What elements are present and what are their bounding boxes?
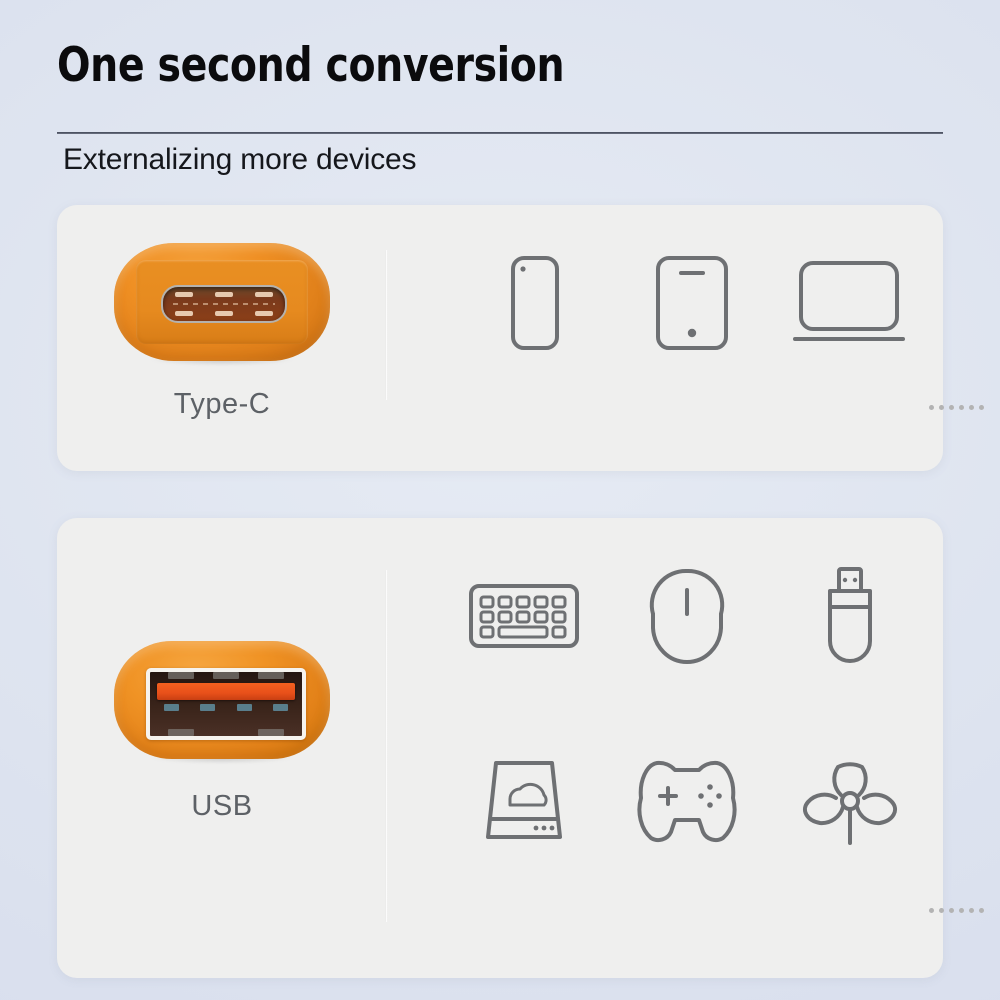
connector-label-type-c: Type-C bbox=[97, 388, 347, 421]
device-icon-external-hard-drive bbox=[442, 743, 605, 863]
usb-c-receptacle bbox=[161, 285, 287, 323]
usb-a-tongue bbox=[157, 683, 295, 700]
product-feature-page: One second conversion Externalizing more… bbox=[0, 0, 1000, 1000]
device-row-type-c bbox=[457, 243, 927, 363]
tablet-icon bbox=[652, 253, 732, 353]
device-icon-gamepad bbox=[605, 743, 768, 863]
device-icon-keyboard bbox=[442, 556, 605, 676]
more-devices-ellipsis bbox=[929, 908, 984, 913]
external-hard-drive-icon bbox=[480, 757, 568, 849]
connector-face bbox=[136, 260, 308, 344]
usb-a-tabs-top bbox=[168, 672, 284, 679]
usb-c-port-icon bbox=[97, 235, 347, 370]
device-icon-tablet bbox=[614, 243, 771, 363]
connector-type-c: Type-C bbox=[97, 235, 347, 421]
card-divider bbox=[385, 570, 388, 922]
connector-label-usb: USB bbox=[97, 790, 347, 823]
usb-a-port-icon bbox=[97, 633, 347, 768]
keyboard-icon bbox=[468, 581, 580, 651]
card-usb: USB bbox=[57, 518, 943, 978]
card-divider bbox=[385, 250, 388, 400]
title-divider bbox=[57, 132, 943, 134]
device-icon-fan bbox=[768, 743, 931, 863]
more-devices-ellipsis bbox=[929, 405, 984, 410]
gamepad-icon bbox=[635, 758, 739, 848]
usb-a-tabs-bottom bbox=[168, 729, 284, 736]
card-type-c: Type-C bbox=[57, 205, 943, 471]
device-row-usb-1 bbox=[442, 556, 932, 676]
device-row-usb-2 bbox=[442, 743, 932, 863]
device-icon-mouse bbox=[605, 556, 768, 676]
device-icon-laptop bbox=[770, 243, 927, 363]
page-title: One second conversion bbox=[57, 40, 564, 92]
connector-usb: USB bbox=[97, 633, 347, 823]
smartphone-icon bbox=[505, 253, 565, 353]
usb-a-contacts bbox=[164, 704, 288, 711]
device-icon-smartphone bbox=[457, 243, 614, 363]
connector-body bbox=[114, 243, 330, 361]
page-subtitle: Externalizing more devices bbox=[63, 143, 416, 177]
laptop-icon bbox=[789, 257, 909, 349]
usb-c-tongue bbox=[173, 303, 275, 305]
device-icon-flash-drive bbox=[768, 556, 931, 676]
connector-body bbox=[114, 641, 330, 759]
usb-c-pins-top bbox=[175, 292, 273, 297]
fan-icon bbox=[802, 755, 898, 851]
flash-drive-icon bbox=[818, 565, 882, 667]
mouse-icon bbox=[648, 566, 726, 666]
usb-a-receptacle bbox=[146, 668, 306, 740]
usb-c-pins-bottom bbox=[175, 311, 273, 316]
